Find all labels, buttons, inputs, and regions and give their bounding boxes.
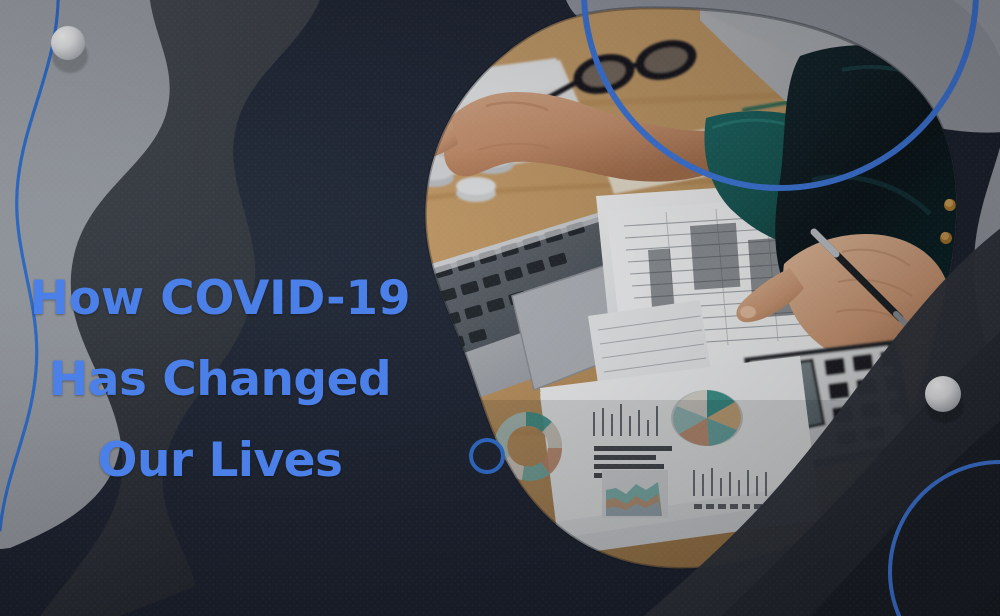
decoration-layer <box>0 0 1000 616</box>
blue-ring-small-left-of-photo <box>471 440 503 472</box>
covid-banner: How COVID-19 Has Changed Our Lives <box>0 0 1000 616</box>
